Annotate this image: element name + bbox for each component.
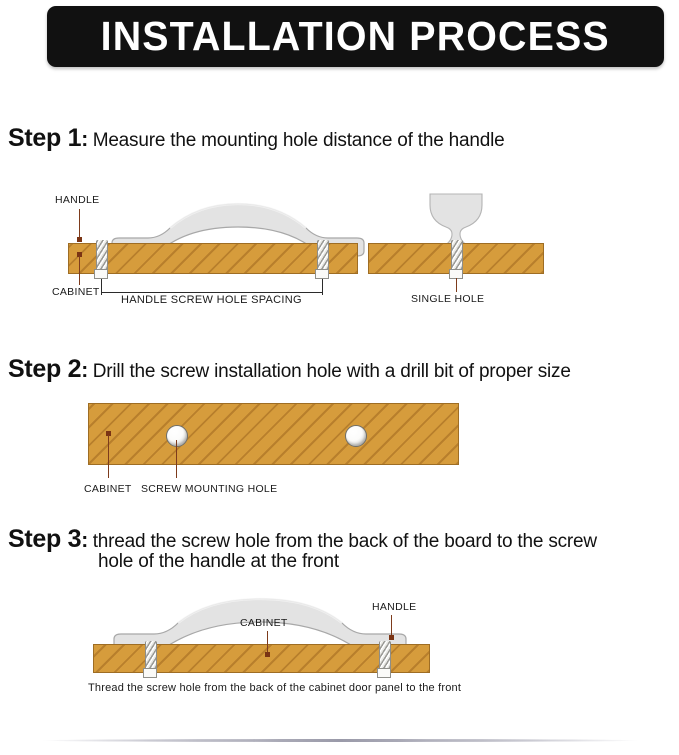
screw-left-step3 [145, 641, 155, 671]
screw-head-left-step1 [94, 269, 108, 279]
label-handle-screw-hole-spacing: HANDLE SCREW HOLE SPACING [121, 294, 302, 306]
step-3-description: thread the screw hole from the back of t… [93, 531, 597, 552]
step-2-label: Step 2 [8, 355, 81, 383]
step-3-caption: Thread the screw hole from the back of t… [88, 682, 461, 694]
leader-single-hole [456, 278, 457, 292]
leader-cabinet-step2 [108, 435, 109, 478]
label-handle-step1: HANDLE [55, 194, 99, 206]
screw-shaft [317, 240, 329, 272]
step-1-description: Measure the mounting hole distance of th… [93, 130, 505, 151]
step-2-description: Drill the screw installation hole with a… [93, 361, 571, 382]
step-3-diagram: CABINET HANDLE Thread the screw hole fro… [0, 588, 679, 700]
leader-handle-step1 [79, 209, 80, 239]
screw-right-step1 [317, 240, 327, 272]
step-1-colon: : [81, 128, 88, 151]
step-2-diagram: CABINET SCREW MOUNTING HOLE [0, 398, 679, 498]
leader-handle-step3 [391, 615, 392, 637]
cabinet-board-step2 [88, 403, 459, 465]
leader-dot-cabinet-step3 [265, 652, 270, 657]
screw-single-hole [451, 240, 461, 272]
label-handle-step3: HANDLE [372, 601, 416, 613]
screw-mounting-hole-right [345, 425, 367, 447]
step-3-label: Step 3 [8, 525, 81, 553]
screw-right-step3 [379, 641, 389, 671]
label-cabinet-step2: CABINET [84, 483, 132, 495]
screw-shaft [451, 240, 463, 272]
step-1-label: Step 1 [8, 124, 81, 152]
step-3-description-line2: hole of the handle at the front [98, 551, 339, 573]
screw-head-left-step3 [143, 668, 157, 678]
screw-shaft [379, 641, 391, 671]
leader-cabinet-step3 [267, 631, 268, 654]
screw-head-right-step3 [377, 668, 391, 678]
label-screw-mounting-hole: SCREW MOUNTING HOLE [141, 483, 277, 495]
screw-shaft [145, 641, 157, 671]
label-cabinet-step3: CABINET [240, 617, 288, 629]
screw-head-right-step1 [315, 269, 329, 279]
leader-dot-handle-step3 [389, 635, 394, 640]
page-title: INSTALLATION PROCESS [101, 16, 610, 57]
screw-shaft [96, 240, 108, 272]
step-3-colon: : [81, 529, 88, 552]
step-2-heading: Step 2: Drill the screw installation hol… [8, 355, 571, 384]
label-cabinet-step1: CABINET [52, 286, 100, 298]
step-1-diagram: HANDLE CABINET HANDLE SCREW HOLE SPACING… [0, 180, 679, 315]
screw-left-step1 [96, 240, 106, 272]
page-title-banner: INSTALLATION PROCESS [47, 6, 664, 67]
step-2-colon: : [81, 359, 88, 382]
label-single-hole: SINGLE HOLE [411, 293, 484, 305]
leader-screw-mounting-hole [176, 440, 177, 478]
dimension-line-spacing [101, 292, 323, 293]
leader-cabinet-step1 [79, 256, 80, 285]
footer-shadow-divider [40, 739, 640, 742]
installation-process-page: INSTALLATION PROCESS Step 1: Measure the… [0, 0, 679, 755]
step-1-heading: Step 1: Measure the mounting hole distan… [8, 124, 505, 153]
leader-dot-handle-step1 [77, 237, 82, 242]
screw-mounting-hole-left [166, 425, 188, 447]
step-3-heading: Step 3: thread the screw hole from the b… [8, 525, 597, 554]
